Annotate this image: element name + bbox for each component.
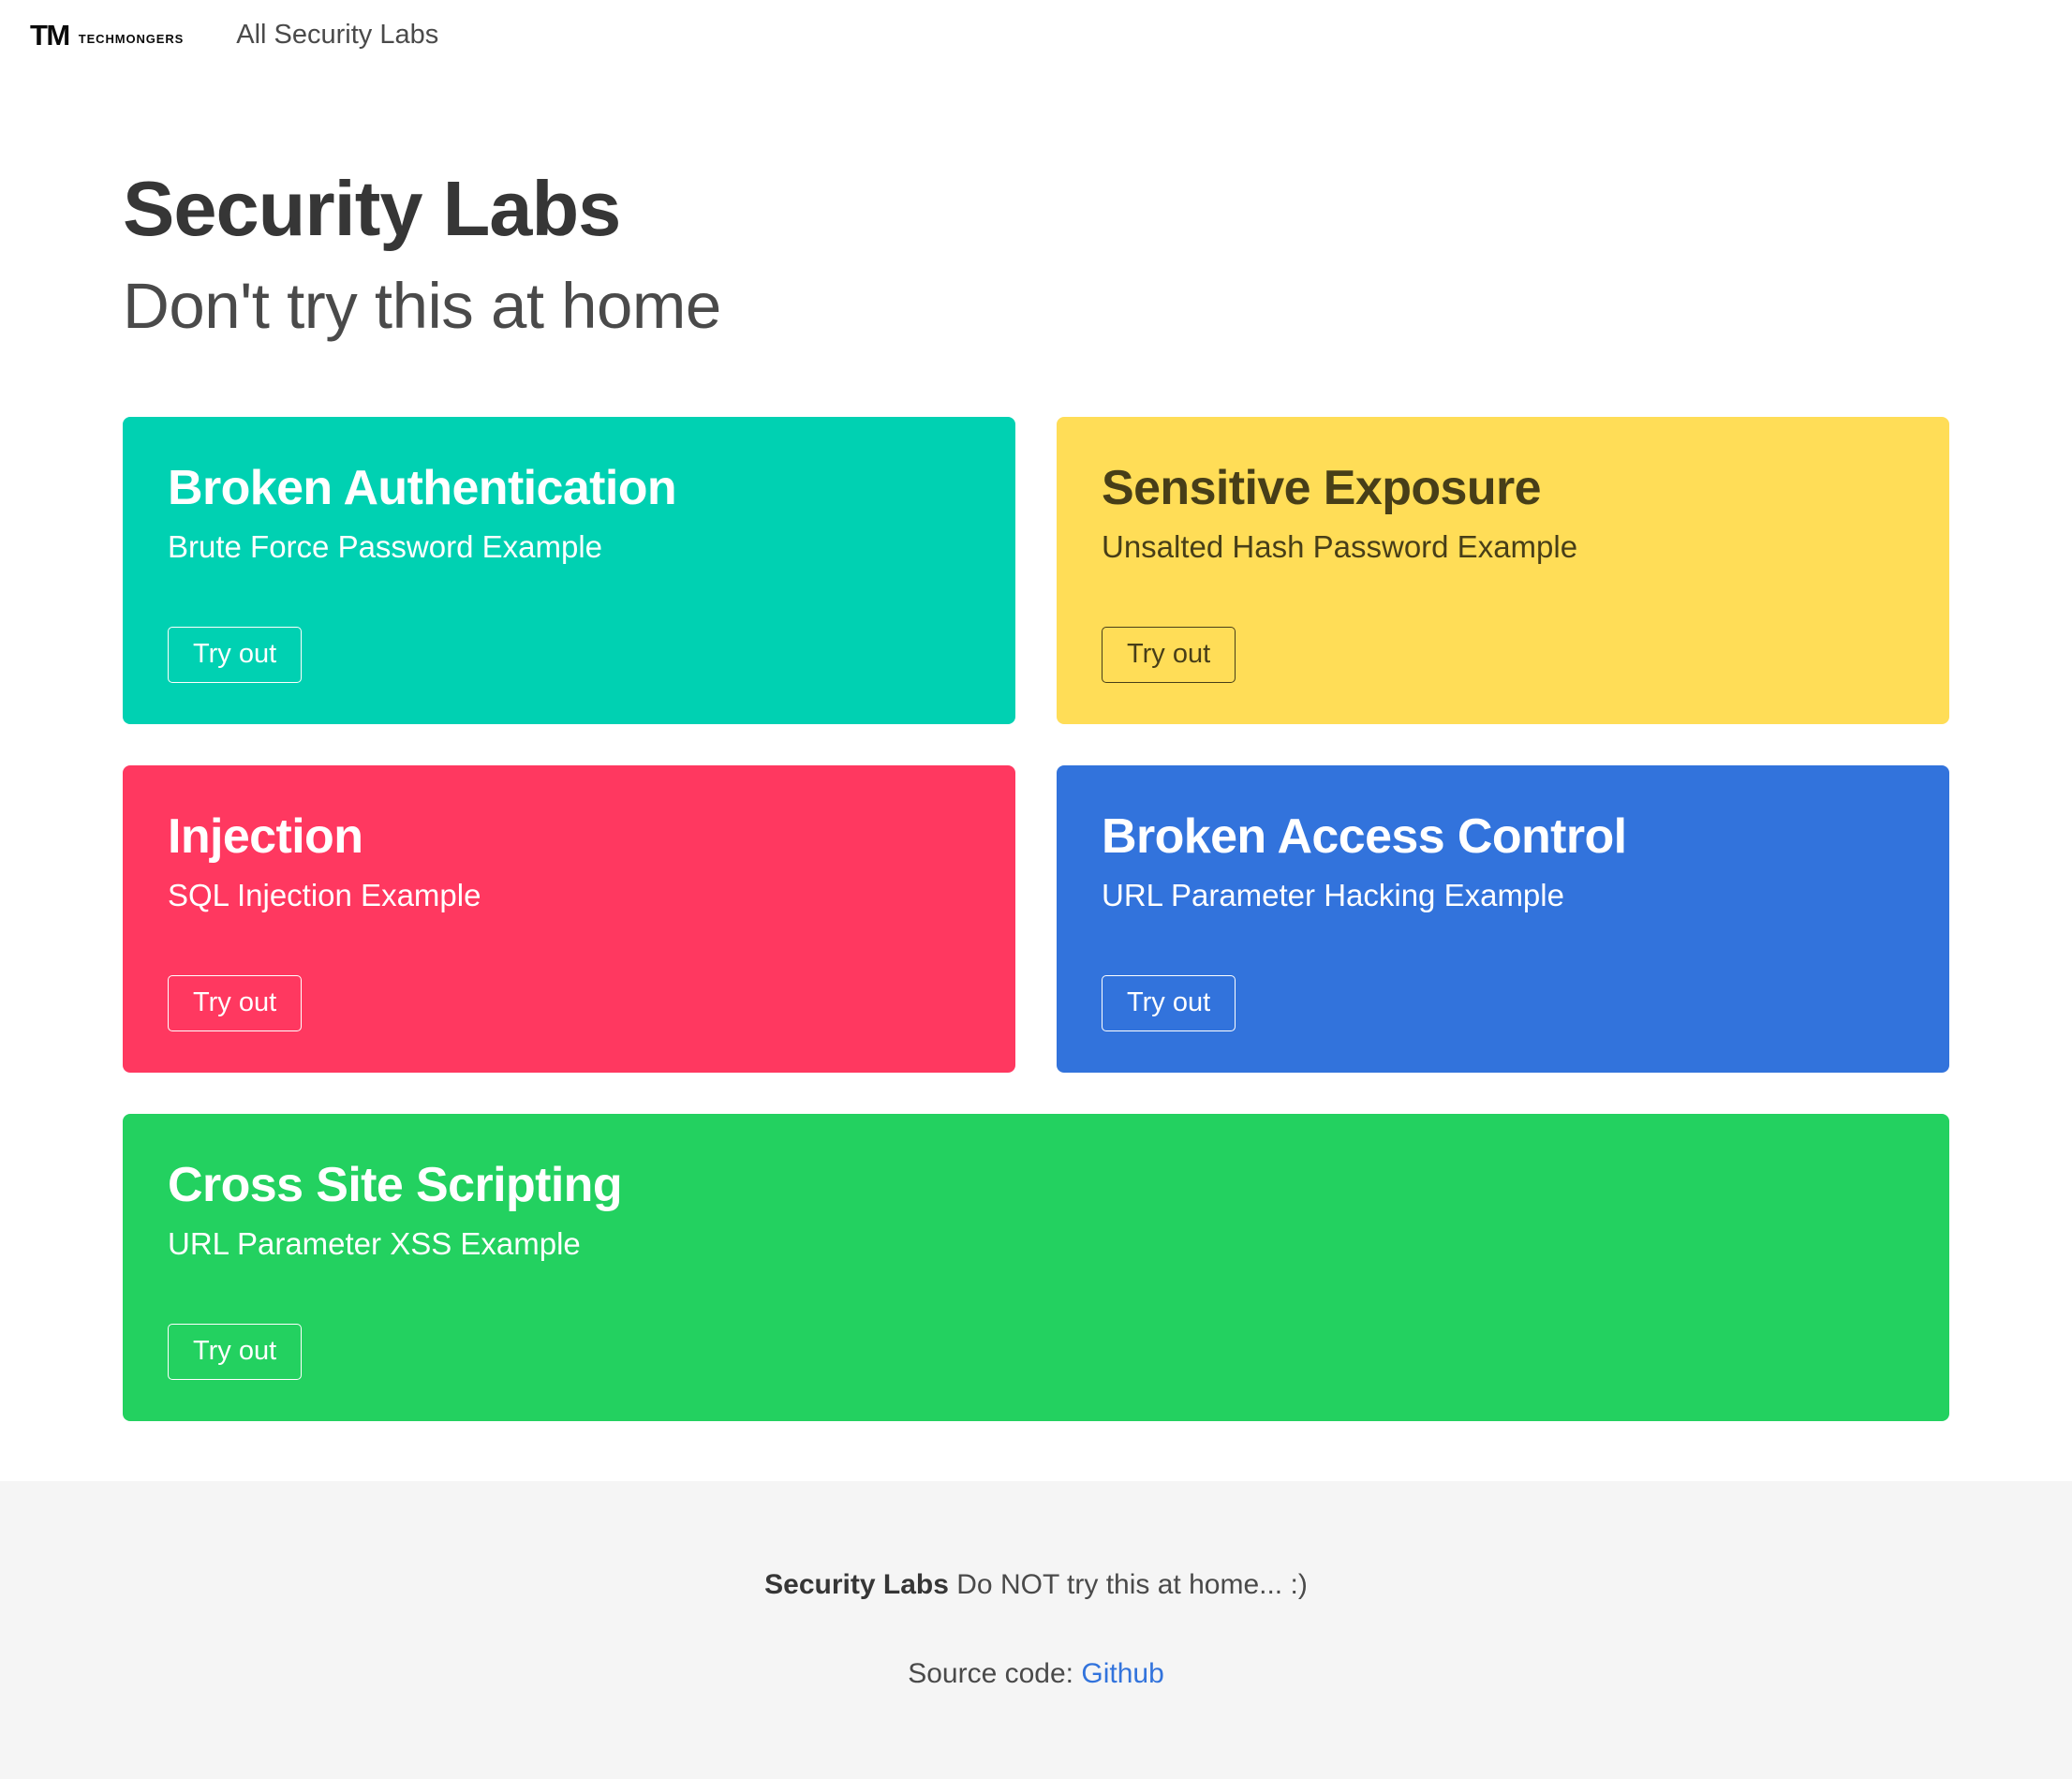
nav-item-all-security-labs[interactable]: All Security Labs bbox=[219, 0, 455, 69]
lab-card-subtitle: URL Parameter Hacking Example bbox=[1102, 876, 1904, 914]
lab-card-broken-access-control[interactable]: Broken Access Control URL Parameter Hack… bbox=[1057, 765, 1949, 1073]
try-out-button[interactable]: Try out bbox=[1102, 975, 1236, 1031]
lab-card-title: Cross Site Scripting bbox=[168, 1159, 1904, 1211]
lab-card-title: Broken Access Control bbox=[1102, 810, 1904, 863]
footer-tagline: Security Labs Do NOT try this at home...… bbox=[37, 1564, 2035, 1606]
page-footer: Security Labs Do NOT try this at home...… bbox=[0, 1481, 2072, 1779]
lab-card-title: Broken Authentication bbox=[168, 462, 970, 514]
lab-card-subtitle: Brute Force Password Example bbox=[168, 527, 970, 566]
page-title: Security Labs bbox=[123, 169, 1949, 249]
lab-card-broken-authentication[interactable]: Broken Authentication Brute Force Passwo… bbox=[123, 417, 1015, 724]
footer-source-label: Source code: bbox=[908, 1658, 1081, 1689]
try-out-button[interactable]: Try out bbox=[168, 1324, 302, 1380]
lab-card-cross-site-scripting[interactable]: Cross Site Scripting URL Parameter XSS E… bbox=[123, 1114, 1949, 1421]
footer-tagline-strong: Security Labs bbox=[764, 1569, 949, 1600]
brand-wordmark: TECHMONGERS bbox=[79, 33, 184, 45]
try-out-button[interactable]: Try out bbox=[168, 627, 302, 683]
footer-source: Source code: Github bbox=[37, 1653, 2035, 1695]
page-subtitle: Don't try this at home bbox=[123, 270, 1949, 342]
brand-logo[interactable]: TM TECHMONGERS bbox=[17, 0, 199, 69]
lab-card-title: Sensitive Exposure bbox=[1102, 462, 1904, 514]
github-link[interactable]: Github bbox=[1081, 1658, 1163, 1689]
lab-card-title: Injection bbox=[168, 810, 970, 863]
lab-card-sensitive-exposure[interactable]: Sensitive Exposure Unsalted Hash Passwor… bbox=[1057, 417, 1949, 724]
main-content: Security Labs Don't try this at home Bro… bbox=[0, 69, 2072, 1481]
hero-section: Security Labs Don't try this at home bbox=[123, 69, 1949, 343]
lab-card-injection[interactable]: Injection SQL Injection Example Try out bbox=[123, 765, 1015, 1073]
content-container: Security Labs Don't try this at home Bro… bbox=[123, 69, 1949, 1421]
lab-card-grid: Broken Authentication Brute Force Passwo… bbox=[123, 417, 1949, 1421]
lab-card-subtitle: Unsalted Hash Password Example bbox=[1102, 527, 1904, 566]
lab-card-subtitle: SQL Injection Example bbox=[168, 876, 970, 914]
try-out-button[interactable]: Try out bbox=[1102, 627, 1236, 683]
lab-card-subtitle: URL Parameter XSS Example bbox=[168, 1224, 1904, 1263]
try-out-button[interactable]: Try out bbox=[168, 975, 302, 1031]
navbar: TM TECHMONGERS All Security Labs bbox=[0, 0, 2072, 69]
techmongers-logo-icon: TM bbox=[30, 21, 69, 50]
footer-tagline-text: Do NOT try this at home... :) bbox=[949, 1569, 1308, 1600]
